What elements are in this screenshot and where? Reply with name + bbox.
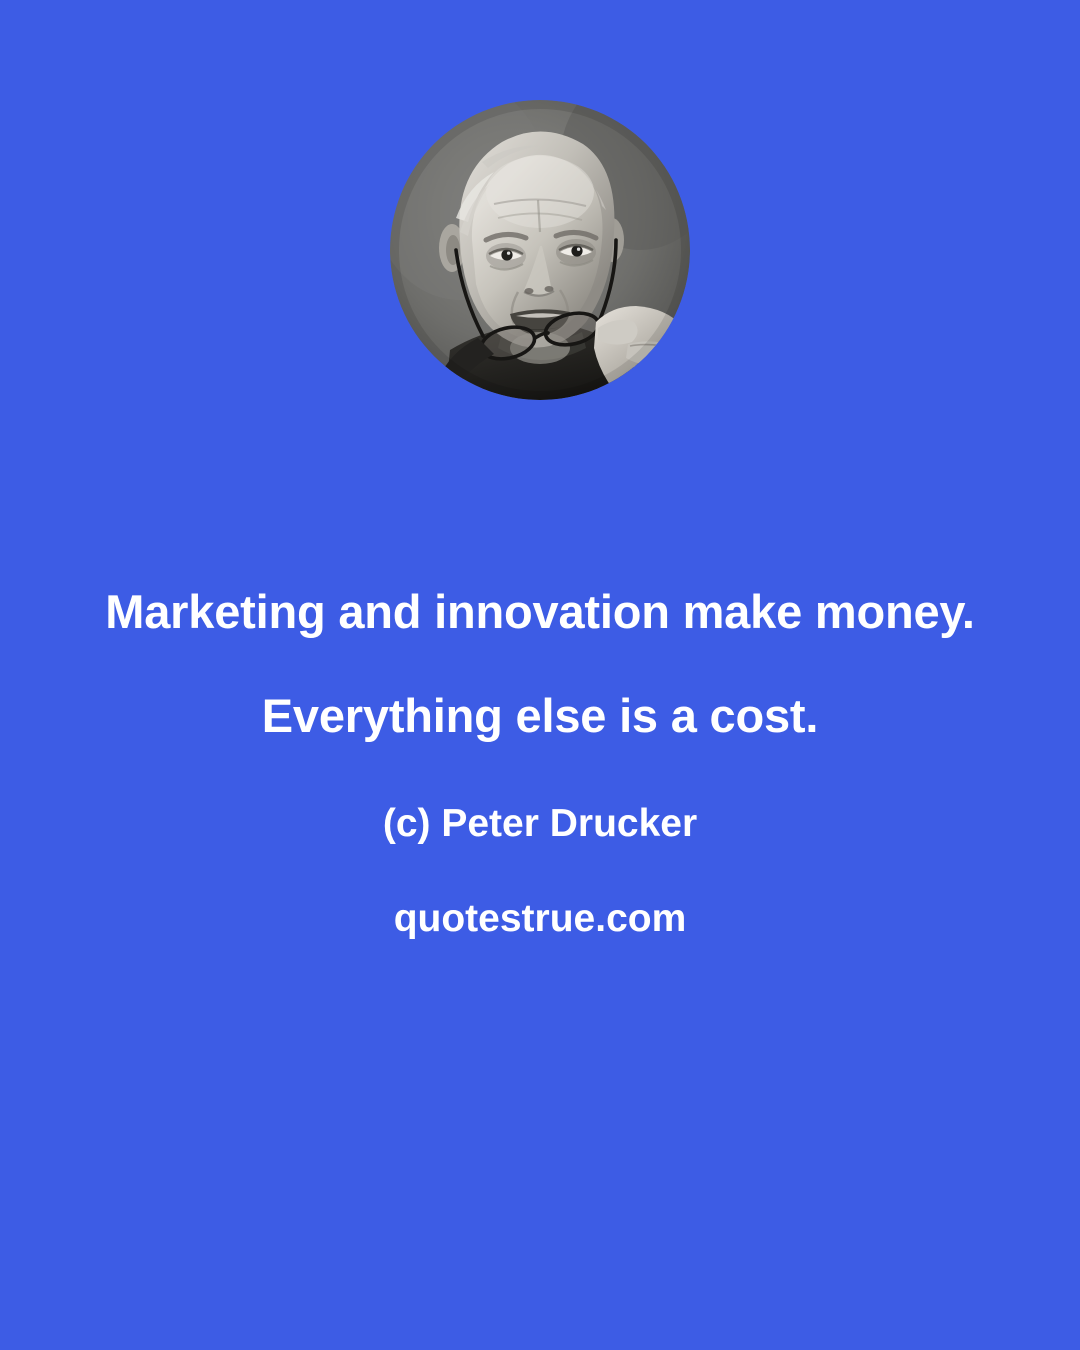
quote-text-block: Marketing and innovation make money. Eve…	[0, 560, 1080, 947]
portrait-peter-drucker-icon	[390, 100, 690, 400]
portrait-container	[390, 100, 690, 400]
quote-line-2: Everything else is a cost.	[0, 664, 1080, 768]
website-label: quotestrue.com	[0, 891, 1080, 947]
quote-attribution: (c) Peter Drucker	[0, 796, 1080, 852]
quote-line-1: Marketing and innovation make money.	[0, 560, 1080, 664]
quote-card: Marketing and innovation make money. Eve…	[0, 0, 1080, 1350]
